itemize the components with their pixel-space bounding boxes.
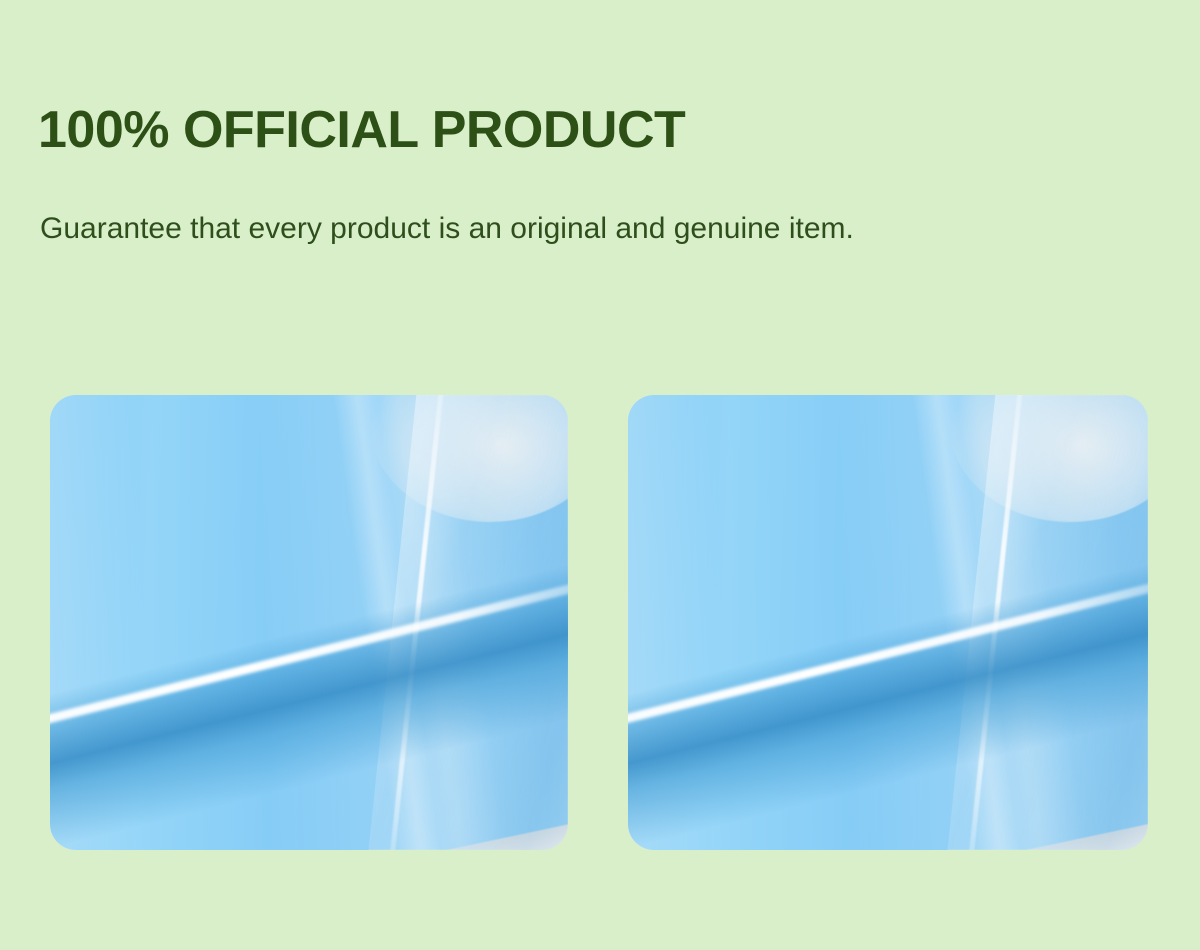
tampered-seal-photo: VOID VOID VOID [628,395,1148,850]
intact-seal-photo: MedyLondon OFFICIAL PRODUCT [50,395,568,850]
page-title: 100% OFFICIAL PRODUCT [38,103,685,158]
intact-seal-photo-card: MedyLondon OFFICIAL PRODUCT [50,395,568,850]
tampered-seal-photo-card: VOID VOID VOID [628,395,1148,850]
page-subtitle: Guarantee that every product is an origi… [40,210,854,248]
